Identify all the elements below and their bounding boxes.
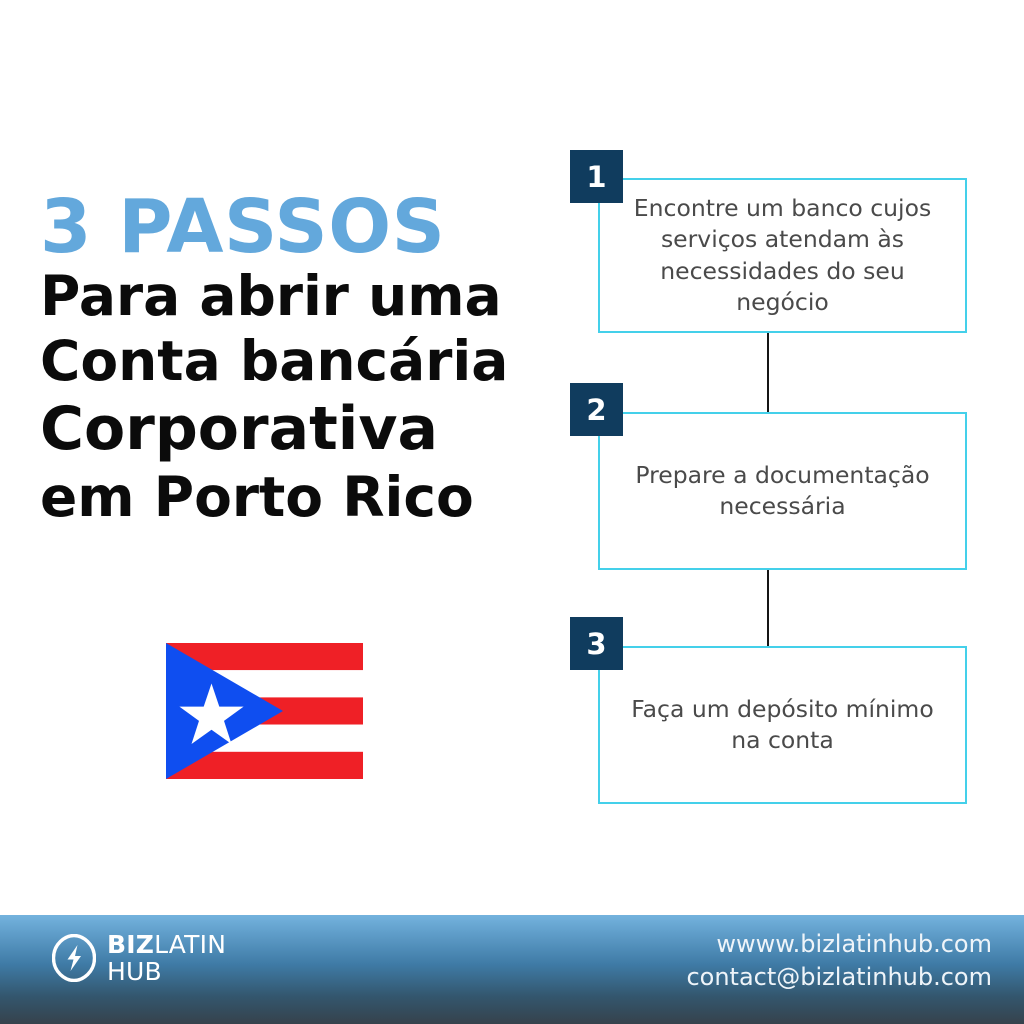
step-3-badge: 3 [570, 617, 623, 670]
step-2-badge: 2 [570, 383, 623, 436]
headline-eyebrow: 3 PASSOS [40, 192, 540, 262]
connector-1-to-2 [767, 333, 769, 412]
flag-svg [166, 643, 363, 779]
step-1-box: Encontre um banco cujos serviços atendam… [598, 178, 967, 333]
step-1-text: Encontre um banco cujos serviços atendam… [600, 193, 965, 318]
brand-logo: BIZLATIN HUB [52, 932, 226, 984]
headline-line-4: em Porto Rico [40, 465, 540, 530]
headline-line-1: Para abrir uma [40, 264, 540, 329]
step-3-box: Faça um depósito mínimo na conta [598, 646, 967, 804]
footer-contact: wwww.bizlatinhub.com contact@bizlatinhub… [686, 928, 992, 994]
puerto-rico-flag [166, 643, 363, 779]
brand-hub: HUB [107, 959, 226, 984]
brand-wordmark: BIZLATIN HUB [107, 932, 226, 984]
connector-2-to-3 [767, 570, 769, 646]
headline-line-3: Corporativa [40, 394, 540, 465]
infographic-canvas: 3 PASSOS Para abrir uma Conta bancária C… [0, 0, 1024, 1024]
headline-line-2: Conta bancária [40, 329, 540, 394]
step-2-text: Prepare a documentação necessária [600, 460, 965, 523]
brand-latin: LATIN [154, 930, 226, 959]
step-2-box: Prepare a documentação necessária [598, 412, 967, 570]
email-address[interactable]: contact@bizlatinhub.com [686, 961, 992, 994]
step-1-badge: 1 [570, 150, 623, 203]
brand-biz: BIZ [107, 930, 154, 959]
bizlatinhub-logo-icon [52, 934, 96, 982]
headline-block: 3 PASSOS Para abrir uma Conta bancária C… [40, 192, 540, 530]
step-3-text: Faça um depósito mínimo na conta [600, 694, 965, 757]
website-url[interactable]: wwww.bizlatinhub.com [686, 928, 992, 961]
